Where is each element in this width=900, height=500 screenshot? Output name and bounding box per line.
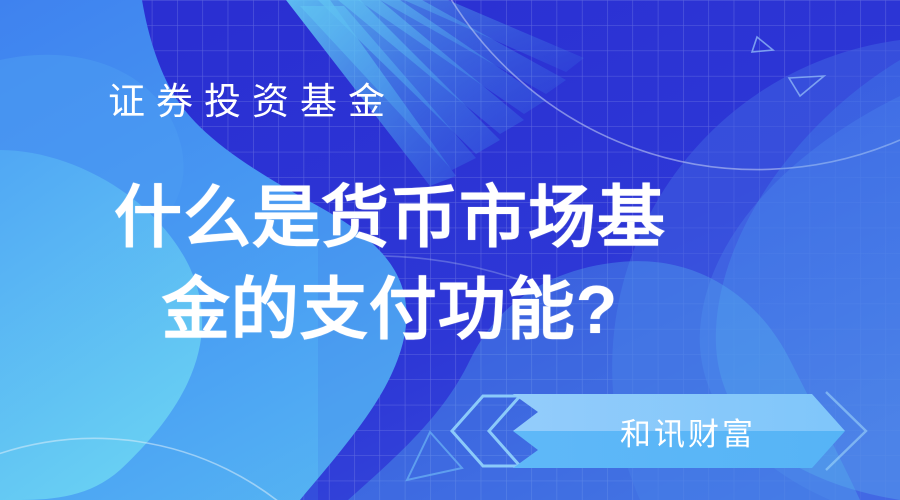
brand-banner-shape (452, 392, 866, 470)
background-artwork (0, 0, 900, 500)
promo-poster: 证券投资基金 什么是货币市场基 金的支付功能? 和讯财富 (0, 0, 900, 500)
banner-body-bottom (513, 431, 845, 468)
banner-body-top (513, 394, 845, 431)
